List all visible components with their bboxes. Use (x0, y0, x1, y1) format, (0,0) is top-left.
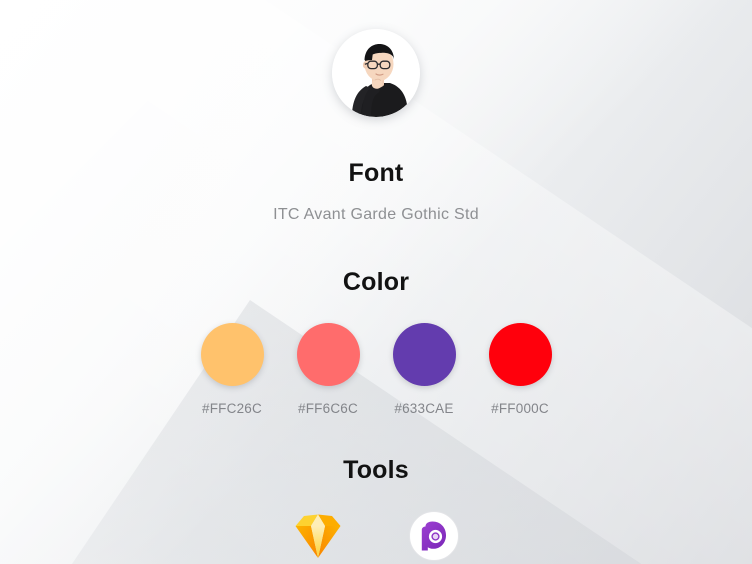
color-section: Color #FFC26C #FF6C6C #633CAE #FF000C (0, 270, 752, 416)
color-swatch-label: #FF6C6C (298, 402, 358, 416)
style-guide-canvas: Font ITC Avant Garde Gothic Std Color #F… (0, 0, 752, 564)
color-swatch-item[interactable]: #FF6C6C (297, 323, 360, 416)
sketch-icon-container[interactable] (290, 508, 346, 564)
color-swatch-dot[interactable] (393, 323, 456, 386)
color-swatch-item[interactable]: #FFC26C (201, 323, 264, 416)
content-column: Font ITC Avant Garde Gothic Std Color #F… (0, 29, 752, 564)
font-section: Font ITC Avant Garde Gothic Std (0, 161, 752, 223)
principle-p-icon (408, 510, 460, 562)
color-swatch-dot[interactable] (201, 323, 264, 386)
color-swatch-row: #FFC26C #FF6C6C #633CAE #FF000C (0, 323, 752, 416)
color-swatch-item[interactable]: #633CAE (393, 323, 456, 416)
principle-icon-container[interactable] (406, 508, 462, 564)
avatar (332, 29, 420, 117)
avatar-photo-icon (332, 29, 420, 117)
color-swatch-item[interactable]: #FF000C (489, 323, 552, 416)
sketch-diamond-icon (292, 512, 344, 560)
color-swatch-label: #FF000C (491, 402, 549, 416)
font-name-label: ITC Avant Garde Gothic Std (0, 207, 752, 223)
avatar-container (0, 29, 752, 117)
tools-row: Sketch (0, 508, 752, 564)
color-swatch-dot[interactable] (297, 323, 360, 386)
color-swatch-label: #FFC26C (202, 402, 262, 416)
color-swatch-label: #633CAE (394, 402, 453, 416)
font-section-heading: Font (0, 161, 752, 186)
color-swatch-dot[interactable] (489, 323, 552, 386)
color-section-heading: Color (0, 270, 752, 295)
tools-section: Tools (0, 458, 752, 564)
tool-item-principle[interactable]: Principle (398, 508, 470, 564)
tools-section-heading: Tools (0, 458, 752, 483)
tool-item-sketch[interactable]: Sketch (282, 508, 354, 564)
